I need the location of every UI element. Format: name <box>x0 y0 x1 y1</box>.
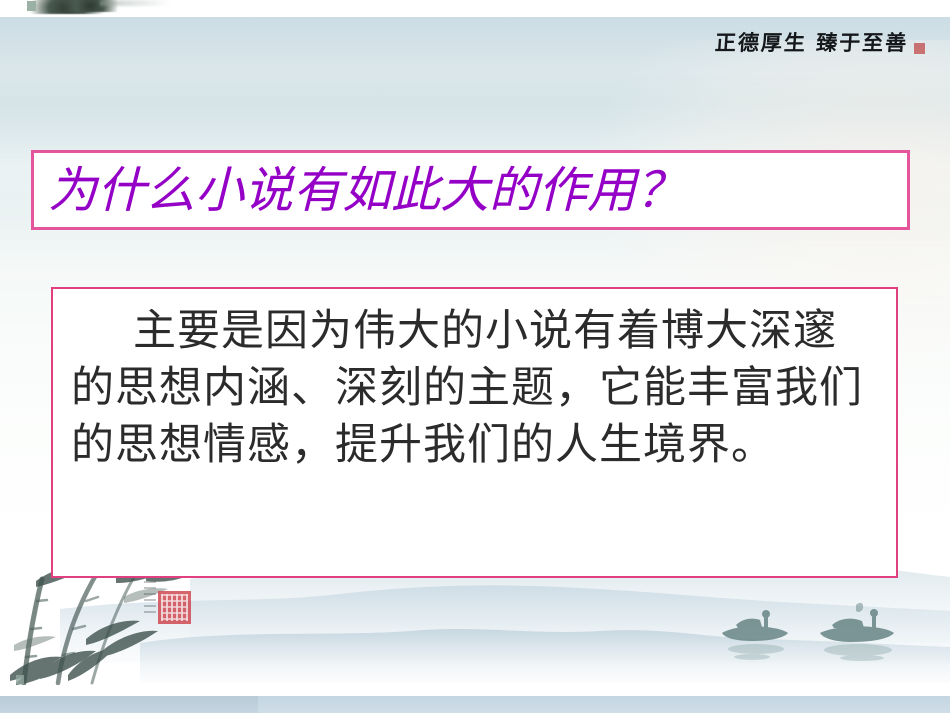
page-title: 为什么小说有如此大的作用？ <box>48 166 685 215</box>
top-photo-strip <box>0 0 950 17</box>
title-box: 为什么小说有如此大的作用？ <box>31 150 910 230</box>
body-box: 主要是因为伟大的小说有着博大深邃的思想内涵、深刻的主题，它能丰富我们的思想情感，… <box>51 287 898 578</box>
calligraphy-seal-icon <box>914 43 925 54</box>
calligraphy-motto: 正德厚生 臻于至善 <box>715 27 925 57</box>
body-paragraph: 主要是因为伟大的小说有着博大深邃的思想内涵、深刻的主题，它能丰富我们的思想情感，… <box>71 303 878 474</box>
slide-canvas: 正德厚生 臻于至善 为什么小说有如此大的作用？ 主要是因为伟大的小说有着博大深邃… <box>0 0 950 713</box>
calligraphy-text: 正德厚生 臻于至善 <box>714 27 909 57</box>
bottom-band-left <box>0 696 258 713</box>
